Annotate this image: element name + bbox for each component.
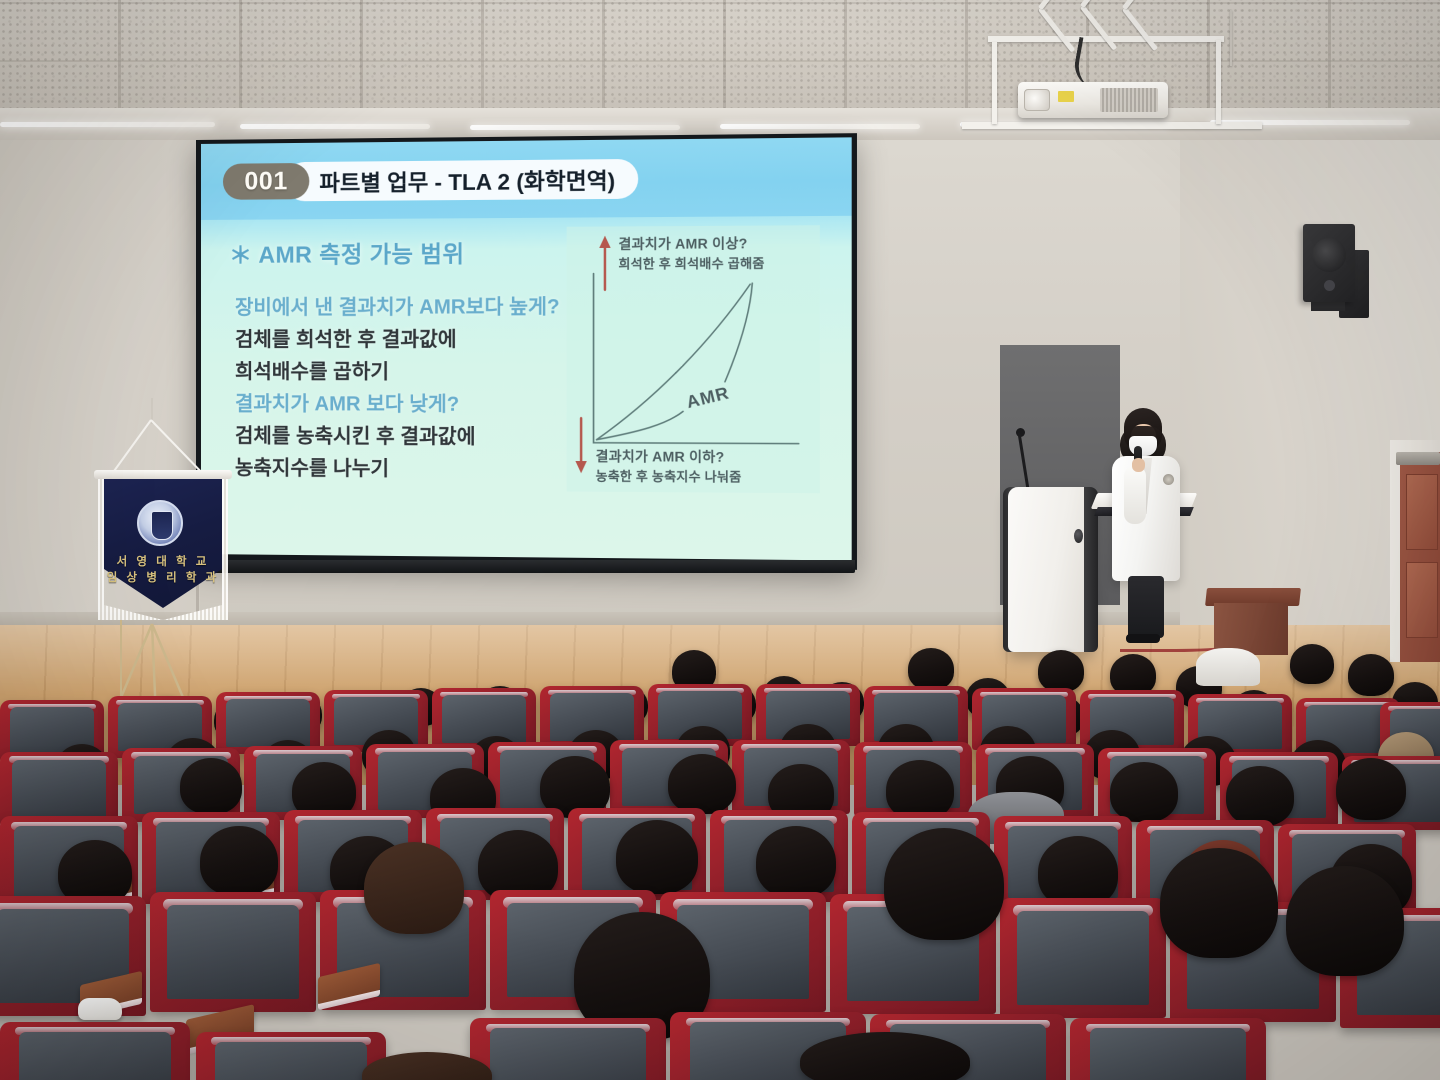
- ceiling-projector-icon: [1018, 82, 1168, 118]
- seat-back[interactable]: [0, 1022, 190, 1080]
- presenter-arm: [1124, 466, 1146, 524]
- presenter-trousers: [1128, 576, 1164, 638]
- projection-screen: 파트별 업무 - TLA 2 (화학면역) 001 ＊ AMR 측정 가능 범위…: [196, 133, 857, 570]
- slide-body-line: 희석배수를 곱하기: [235, 356, 602, 389]
- ceiling-texture: [0, 0, 1440, 118]
- seat-back[interactable]: [0, 752, 118, 826]
- presenter-hand: [1132, 458, 1145, 472]
- diagram-annotation-bottom-2: 농축한 후 농축지수 나눠줌: [596, 465, 742, 485]
- screen-bottom-bar: [196, 560, 855, 573]
- seat-back[interactable]: [470, 1018, 666, 1080]
- banner-text-block: 서 영 대 학 교 임 상 병 리 학 과: [98, 554, 228, 586]
- projector-lens-icon: [1024, 89, 1050, 111]
- projector-vent: [1100, 88, 1158, 112]
- banner-line-1: 서 영 대 학 교: [98, 554, 228, 570]
- audience-head: [1336, 758, 1406, 820]
- amr-range-diagram: 결과치가 AMR 이상? 희석한 후 희석배수 곱해줌 AMR 결과치가 AMR…: [567, 225, 820, 493]
- light-strip: [470, 125, 680, 130]
- projector-post-left: [992, 42, 997, 124]
- diagram-annotation-top-1: 결과치가 AMR 이상?: [618, 232, 747, 253]
- audience-head: [756, 826, 836, 898]
- presenter: [1108, 408, 1186, 643]
- speaker-podium: [1008, 487, 1094, 652]
- light-strip: [0, 122, 215, 127]
- slide-surface: 파트별 업무 - TLA 2 (화학면역) 001 ＊ AMR 측정 가능 범위…: [201, 137, 852, 560]
- audience-head: [364, 842, 464, 934]
- audience-head: [1160, 848, 1278, 958]
- audience-shoulders: [1196, 648, 1260, 686]
- banner-rod: [94, 470, 232, 479]
- audience-head: [1038, 650, 1084, 692]
- slide-body-line: 장비에서 낸 결과치가 AMR보다 높게?: [235, 291, 602, 324]
- audience-head: [1290, 644, 1334, 684]
- slide-body-line: 검체를 농축시킨 후 결과값에: [235, 420, 602, 454]
- lab-coat-badge: [1163, 474, 1174, 485]
- university-crest-icon: [137, 500, 183, 546]
- slide-number-pill: 001: [223, 163, 309, 200]
- projector-sticker: [1058, 91, 1074, 102]
- light-strip: [240, 124, 430, 129]
- audience-head: [668, 754, 736, 814]
- seat-back[interactable]: [1070, 1018, 1266, 1080]
- podium-control-knob[interactable]: [1074, 529, 1083, 543]
- speaker-tweeter: [1324, 280, 1335, 291]
- wall-speaker-icon: [1303, 224, 1355, 302]
- door-panel-upper: [1406, 474, 1438, 550]
- slide-body-line: 농축지수를 나누기: [235, 452, 602, 486]
- ceiling-hanger-wire: [1230, 10, 1232, 66]
- department-pennant: 서 영 대 학 교 임 상 병 리 학 과: [98, 478, 228, 630]
- slide-bullet-heading: ＊ AMR 측정 가능 범위: [229, 234, 464, 269]
- slide-title-pill: 파트별 업무 - TLA 2 (화학면역): [285, 159, 638, 201]
- door-panel-lower: [1406, 562, 1438, 638]
- lecture-hall-photo: 파트별 업무 - TLA 2 (화학면역) 001 ＊ AMR 측정 가능 범위…: [0, 0, 1440, 1080]
- seat-back[interactable]: [196, 1032, 386, 1080]
- audience-head: [886, 760, 954, 820]
- audience-head: [616, 820, 698, 894]
- slide-body-text: 장비에서 낸 결과치가 AMR보다 높게? 검체를 희석한 후 결과값에 희석배…: [235, 291, 602, 487]
- slide-title: 파트별 업무 - TLA 2 (화학면역): [319, 163, 615, 198]
- audience-head: [884, 828, 1004, 940]
- audience-head: [180, 758, 242, 814]
- slide-body-line: 검체를 희석한 후 결과값에: [235, 323, 602, 356]
- seat-back[interactable]: [150, 892, 316, 1012]
- diagram-annotation-bottom-1: 결과치가 AMR 이하?: [596, 445, 725, 466]
- banner-line-2: 임 상 병 리 학 과: [98, 570, 228, 586]
- projector-post-right: [1216, 40, 1221, 124]
- slide-number: 001: [244, 167, 287, 196]
- light-strip: [720, 124, 920, 129]
- seat-back[interactable]: [1000, 898, 1166, 1018]
- audience-head: [1348, 654, 1394, 696]
- audience-head: [1110, 762, 1178, 822]
- audience-seating: [0, 640, 1440, 1080]
- diagram-annotation-top-2: 희석한 후 희석배수 곱해줌: [618, 252, 764, 272]
- speaker-cone: [1312, 238, 1346, 272]
- audience-head: [1286, 866, 1404, 976]
- audience-head: [908, 648, 954, 690]
- audience-head: [1226, 766, 1294, 826]
- audience-head: [200, 826, 278, 896]
- ceiling: [0, 0, 1440, 118]
- audience-shoe: [78, 998, 122, 1020]
- slide-body-line: 결과치가 AMR 보다 낮게?: [235, 388, 602, 421]
- door-closer-icon: [1396, 452, 1440, 465]
